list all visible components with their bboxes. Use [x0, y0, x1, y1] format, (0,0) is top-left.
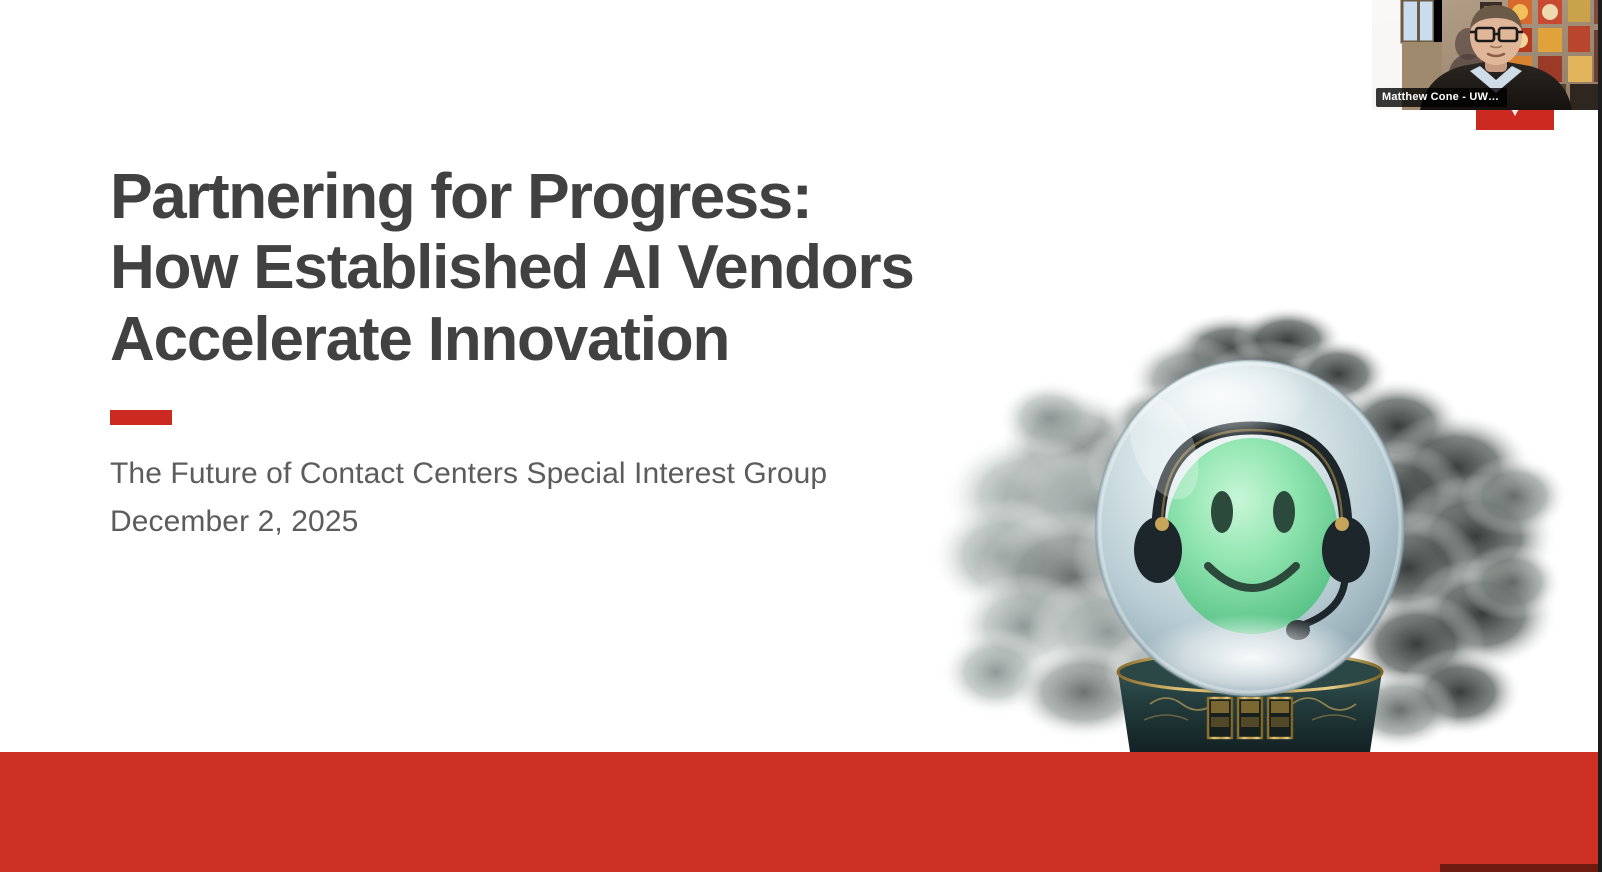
slide-title: Partnering for Progress: How Established…	[110, 160, 940, 376]
slide-subtitle-block: The Future of Contact Centers Special In…	[110, 450, 827, 546]
self-view-video-tile[interactable]: Matthew Cone - UW…	[1372, 0, 1602, 110]
presentation-date: December 2, 2025	[110, 498, 827, 546]
bottom-red-band	[0, 752, 1602, 872]
crystal-ball-illustration	[900, 300, 1600, 760]
participant-name-badge: Matthew Cone - UW…	[1376, 88, 1507, 107]
title-line-3: Accelerate Innovation	[110, 304, 940, 376]
bottom-dark-strip	[1440, 864, 1602, 872]
title-line-2: How Established AI Vendors	[110, 232, 940, 304]
right-edge-frame	[1598, 0, 1602, 872]
base-panels	[1208, 698, 1292, 738]
presentation-slide: Partnering for Progress: How Established…	[0, 0, 1602, 872]
subtitle-text: The Future of Contact Centers Special In…	[110, 450, 827, 498]
red-accent-rule	[110, 410, 172, 425]
title-line-1: Partnering for Progress:	[110, 160, 940, 232]
